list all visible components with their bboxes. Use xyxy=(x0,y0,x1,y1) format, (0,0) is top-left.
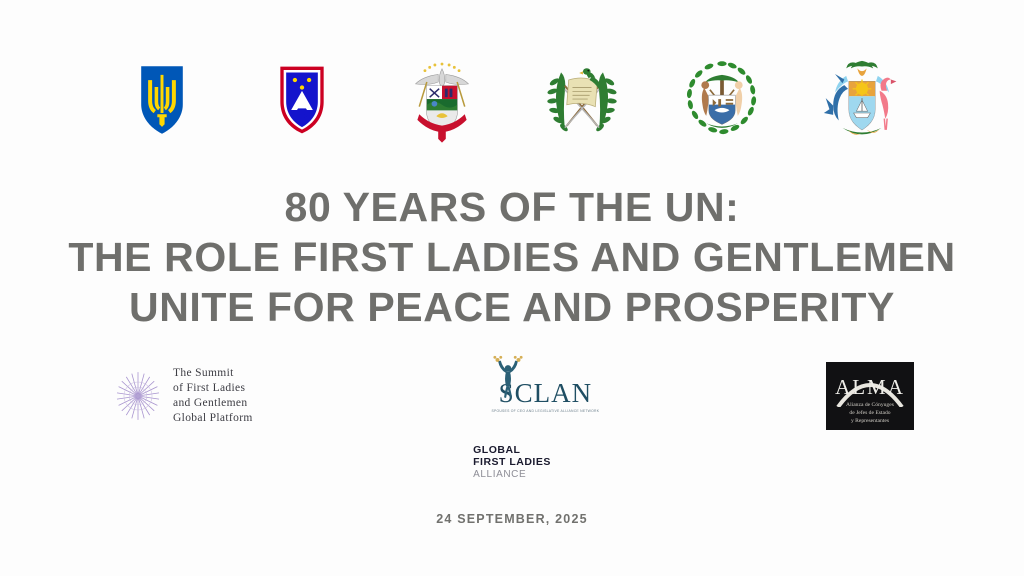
gfla-line-1: GLOBAL xyxy=(473,444,520,456)
summit-text-line-3: and Gentlemen xyxy=(173,396,253,411)
ukraine-coat-of-arms-icon xyxy=(121,54,203,146)
gfla-line-2: FIRST LADIES xyxy=(473,456,551,468)
summit-text-line-2: of First Ladies xyxy=(173,381,253,396)
sponsor-logo-row-secondary: GLOBAL FIRST LADIES ALLIANCE xyxy=(0,444,1024,481)
raised-arms-figure-icon xyxy=(488,354,528,400)
summit-of-first-ladies-logo: The Summit of First Ladies and Gentlemen… xyxy=(112,366,253,427)
alma-sub-line-1: Alianza de Cónyuges xyxy=(846,401,894,409)
slide-title: 80 YEARS OF THE UN: THE ROLE FIRST LADIE… xyxy=(32,182,992,332)
alma-subtitle: Alianza de Cónyuges de Jefes de Estado y… xyxy=(846,401,894,425)
guatemala-coat-of-arms-icon xyxy=(541,54,623,146)
starburst-mandala-icon xyxy=(112,370,164,422)
gfla-line-3: ALLIANCE xyxy=(473,469,526,481)
alma-sub-line-3: y Representantes xyxy=(846,417,894,425)
sclan-logo: SCLAN SPOUSES OF CEO AND LEGISLATIVE ALL… xyxy=(480,380,598,413)
alma-logo: ALMA Alianza de Cónyuges de Jefes de Est… xyxy=(826,362,914,430)
country-emblem-row xyxy=(0,52,1024,148)
event-date: 24 SEPTEMBER, 2025 xyxy=(0,512,1024,526)
title-line-1: 80 YEARS OF THE UN: xyxy=(32,182,992,232)
sponsor-logo-row-primary: The Summit of First Ladies and Gentlemen… xyxy=(82,362,942,430)
title-line-2: THE ROLE FIRST LADIES AND GENTLEMEN xyxy=(32,232,992,282)
presentation-slide: 80 YEARS OF THE UN: THE ROLE FIRST LADIE… xyxy=(0,0,1024,576)
summit-logo-text: The Summit of First Ladies and Gentlemen… xyxy=(173,366,253,427)
alma-sub-line-2: de Jefes de Estado xyxy=(846,409,894,417)
bahamas-coat-of-arms-icon xyxy=(821,54,903,146)
summit-text-line-4: Global Platform xyxy=(173,411,253,426)
slovenia-coat-of-arms-icon xyxy=(261,54,343,146)
global-first-ladies-alliance-logo: GLOBAL FIRST LADIES ALLIANCE xyxy=(473,444,551,481)
belize-coat-of-arms-icon xyxy=(681,54,763,146)
title-line-3: UNITE FOR PEACE AND PROSPERITY xyxy=(32,282,992,332)
panama-coat-of-arms-icon xyxy=(401,54,483,146)
alma-wordmark: ALMA xyxy=(835,377,905,398)
summit-text-line-1: The Summit xyxy=(173,366,253,381)
sclan-subtitle: SPOUSES OF CEO AND LEGISLATIVE ALLIANCE … xyxy=(491,409,599,413)
